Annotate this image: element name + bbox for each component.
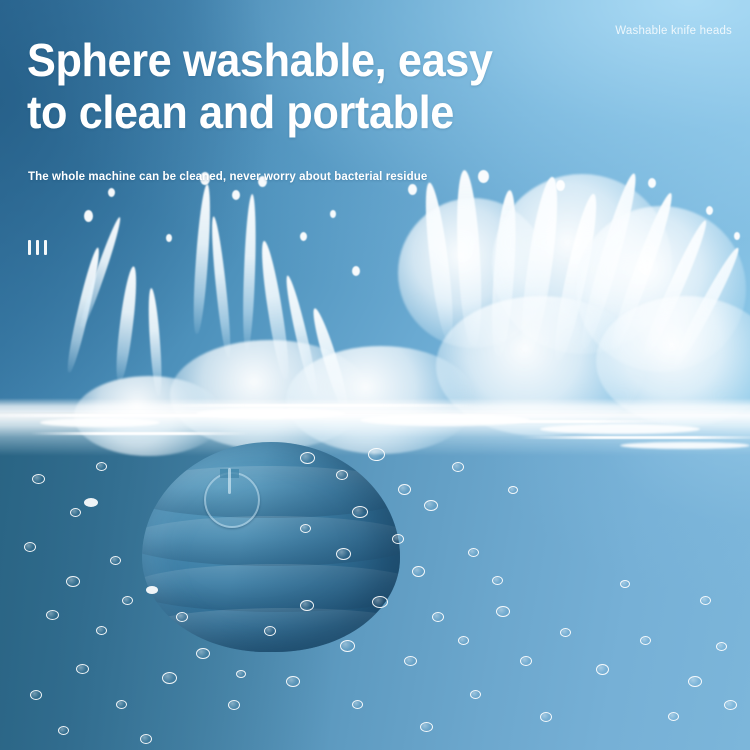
headline-line-1: Sphere washable, easy <box>27 34 647 86</box>
promo-banner: Washable knife heads Sphere washable, ea… <box>0 0 750 750</box>
divider-bar-2 <box>36 240 39 255</box>
page-title: Sphere washable, easy to clean and porta… <box>27 34 647 138</box>
divider-bars-mark <box>28 240 47 255</box>
subtitle: The whole machine can be cleaned, never … <box>28 171 427 183</box>
divider-bar-3 <box>44 240 47 255</box>
headline-line-2: to clean and portable <box>27 86 647 138</box>
divider-bar-1 <box>28 240 31 255</box>
